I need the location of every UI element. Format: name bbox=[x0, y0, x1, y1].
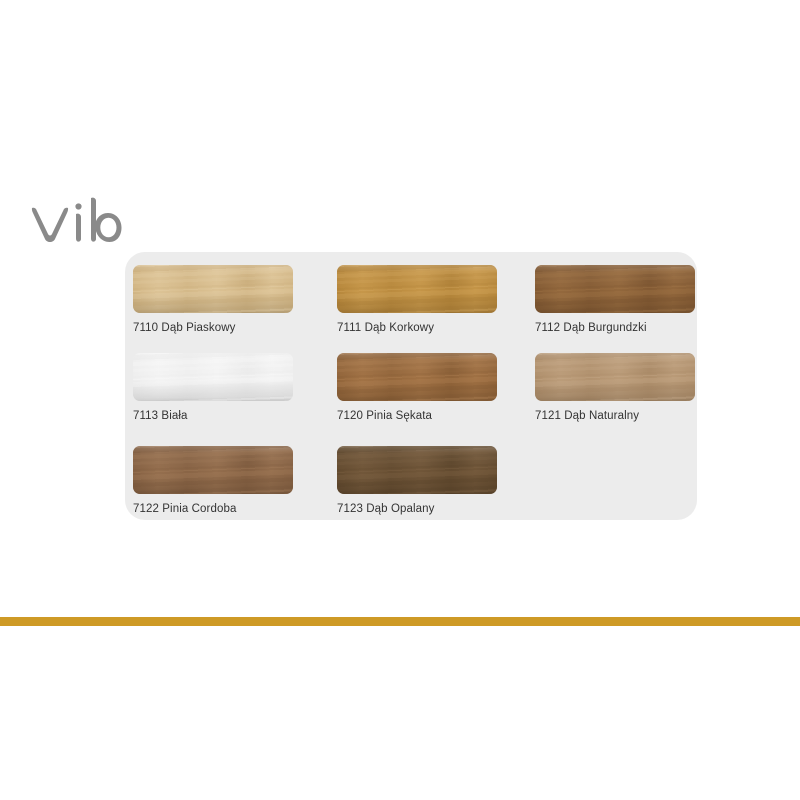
swatch-label: 7113 Biała bbox=[133, 410, 293, 422]
swatch-grid: 7110 Dąb Piaskowy 7111 Dąb Korkowy 7112 … bbox=[125, 265, 697, 520]
swatch-label: 7121 Dąb Naturalny bbox=[535, 410, 695, 422]
wood-grain-texture bbox=[535, 353, 695, 401]
swatch-color-7110[interactable] bbox=[133, 265, 293, 313]
swatch-color-7123[interactable] bbox=[337, 446, 497, 494]
swatch-item[interactable]: 7122 Pinia Cordoba bbox=[133, 446, 293, 515]
swatch-item[interactable]: 7113 Biała bbox=[133, 353, 293, 422]
swatch-label: 7120 Pinia Sękata bbox=[337, 410, 497, 422]
swatch-item[interactable]: 7123 Dąb Opalany bbox=[337, 446, 497, 515]
swatch-item[interactable]: 7120 Pinia Sękata bbox=[337, 353, 497, 422]
swatch-color-7111[interactable] bbox=[337, 265, 497, 313]
wood-grain-texture bbox=[133, 265, 293, 313]
swatch-label: 7110 Dąb Piaskowy bbox=[133, 322, 293, 334]
wood-grain-texture bbox=[535, 265, 695, 313]
swatch-item[interactable]: 7121 Dąb Naturalny bbox=[535, 353, 695, 422]
swatch-label: 7122 Pinia Cordoba bbox=[133, 503, 293, 515]
swatch-item[interactable]: 7110 Dąb Piaskowy bbox=[133, 265, 293, 334]
vilo-wordmark-icon bbox=[28, 196, 188, 252]
brand-logo bbox=[28, 196, 188, 252]
swatch-color-7120[interactable] bbox=[337, 353, 497, 401]
swatch-item[interactable]: 7112 Dąb Burgundzki bbox=[535, 265, 695, 334]
swatch-label: 7112 Dąb Burgundzki bbox=[535, 322, 695, 334]
swatch-item[interactable]: 7111 Dąb Korkowy bbox=[337, 265, 497, 334]
wood-grain-texture bbox=[337, 446, 497, 494]
wood-grain-texture bbox=[133, 353, 293, 401]
wood-grain-texture bbox=[337, 265, 497, 313]
wood-grain-texture bbox=[133, 446, 293, 494]
swatch-label: 7123 Dąb Opalany bbox=[337, 503, 497, 515]
wood-grain-texture bbox=[337, 353, 497, 401]
swatch-color-7113[interactable] bbox=[133, 353, 293, 401]
swatch-label: 7111 Dąb Korkowy bbox=[337, 322, 497, 334]
bottom-accent-bar bbox=[0, 617, 800, 626]
swatch-color-7112[interactable] bbox=[535, 265, 695, 313]
swatch-color-7121[interactable] bbox=[535, 353, 695, 401]
swatch-panel: 7110 Dąb Piaskowy 7111 Dąb Korkowy 7112 … bbox=[125, 252, 697, 520]
swatch-color-7122[interactable] bbox=[133, 446, 293, 494]
